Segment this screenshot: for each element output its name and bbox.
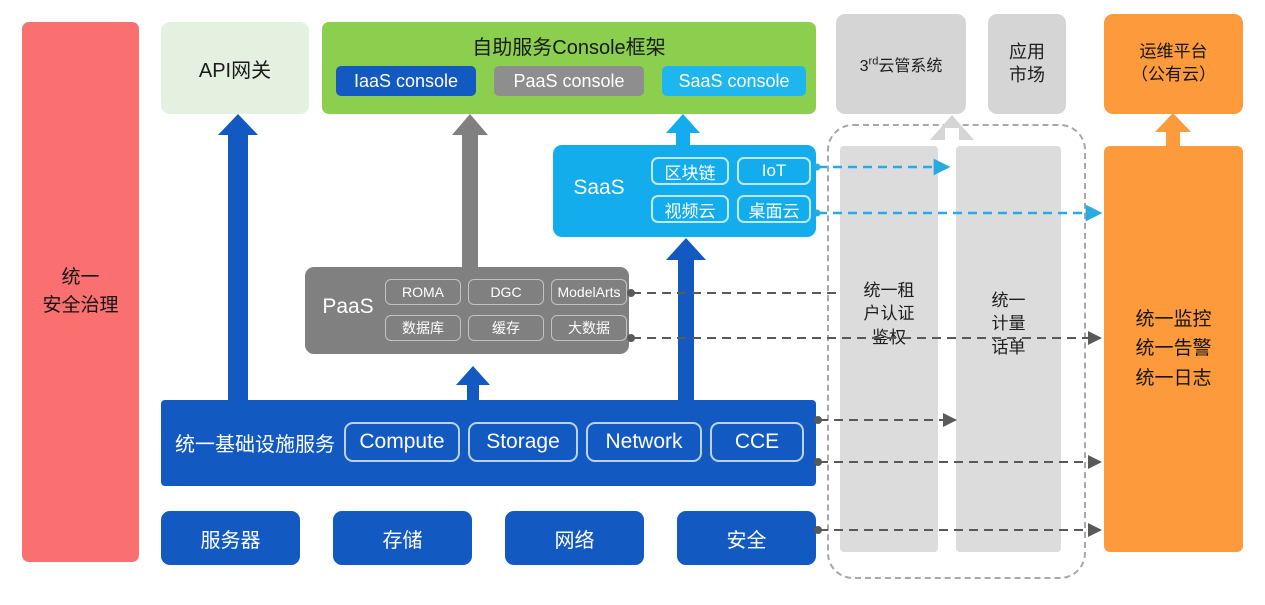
ops-platform-header-label: 运维平台（公有云） [1131,41,1216,87]
infra-chip-cce[interactable]: CCE [710,422,804,462]
paas-chip-roma[interactable]: ROMA [385,279,461,305]
paas-chip-cache[interactable]: 缓存 [468,315,544,341]
saas-layer-label: SaaS [565,176,633,200]
saas-layer-box: SaaS 区块链 IoT 视频云 桌面云 [553,145,816,237]
paas-layer-box: PaaS ROMA DGC ModelArts 数据库 缓存 大数据 [305,267,629,354]
api-gateway-box: API网关 [161,22,309,114]
unified-infrastructure-service-label: 统一基础设施服务 [175,428,335,457]
paas-console-label: PaaS console [513,71,624,92]
saas-chip-desktop-cloud[interactable]: 桌面云 [737,195,811,223]
resource-box-storage: 存储 [333,511,472,565]
infra-chip-storage[interactable]: Storage [468,422,578,462]
resource-box-security: 安全 [677,511,816,565]
unified-security-governance-box: 统一安全治理 [22,22,139,562]
saas-console-label: SaaS console [678,71,789,92]
infra-chip-compute[interactable]: Compute [344,422,460,462]
arrow-paas-to-console [452,114,488,267]
paas-chip-database[interactable]: 数据库 [385,315,461,341]
shared-service-auth-column: 统一租户认证鉴权 [840,146,938,552]
shared-service-auth-label: 统一租户认证鉴权 [864,279,915,349]
app-market-label: 应用市场 [1009,41,1045,88]
saas-chip-video-cloud[interactable]: 视频云 [651,195,729,223]
app-market-box: 应用市场 [988,14,1066,114]
shared-service-metering-label: 统一计量话单 [992,289,1026,359]
arrow-infra-to-paas [456,366,490,400]
infra-chip-network[interactable]: Network [586,422,702,462]
shared-service-metering-column: 统一计量话单 [956,146,1061,552]
iaas-console-label: IaaS console [354,71,458,92]
paas-chip-dgc[interactable]: DGC [468,279,544,305]
iaas-console-pill[interactable]: IaaS console [336,66,476,96]
arrow-infra-to-api-gateway [218,114,258,400]
unified-security-governance-label: 统一安全治理 [42,264,118,319]
paas-console-pill[interactable]: PaaS console [494,66,644,96]
resource-box-server: 服务器 [161,511,300,565]
ops-platform-body-label: 统一监控统一告警统一日志 [1135,305,1211,393]
architecture-diagram: 统一安全治理 API网关 自助服务Console框架 IaaS console … [0,0,1265,605]
dashed-paas-to-auth [627,289,842,297]
ops-platform-body-box: 统一监控统一告警统一日志 [1104,146,1243,552]
api-gateway-label: API网关 [199,54,271,83]
self-service-console-framework: 自助服务Console框架 IaaS console PaaS console … [322,22,816,114]
paas-chip-modelarts[interactable]: ModelArts [551,279,627,305]
saas-chip-iot[interactable]: IoT [737,157,811,185]
arrow-saas-to-console [666,114,700,145]
resource-box-network: 网络 [505,511,644,565]
paas-chip-bigdata[interactable]: 大数据 [551,315,627,341]
ops-platform-header-box: 运维平台（公有云） [1104,14,1243,114]
unified-infrastructure-service-bar: 统一基础设施服务 Compute Storage Network CCE [161,400,816,486]
paas-layer-label: PaaS [315,295,381,319]
third-party-cloud-mgmt-label: 3rd云管系统 [860,52,943,76]
saas-chip-blockchain[interactable]: 区块链 [651,157,729,185]
saas-console-pill[interactable]: SaaS console [662,66,806,96]
arrow-infra-to-saas [666,238,706,400]
arrow-ops-body-to-header [1155,113,1191,146]
third-party-cloud-mgmt-box: 3rd云管系统 [836,14,966,114]
console-framework-title: 自助服务Console框架 [322,31,816,60]
